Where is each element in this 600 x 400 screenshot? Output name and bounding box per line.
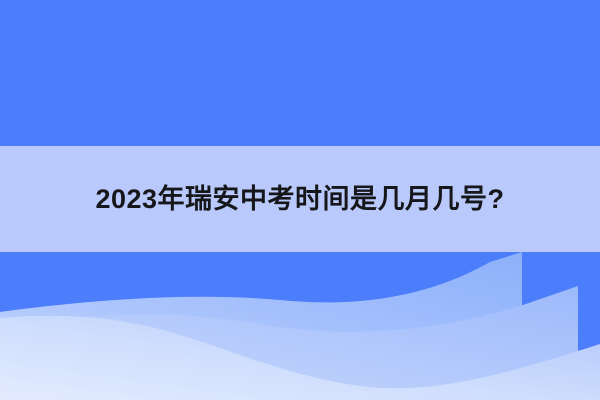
footer-wave-band — [0, 252, 600, 400]
header-band — [0, 0, 600, 146]
page-title: 2023年瑞安中考时间是几月几号? — [95, 186, 504, 213]
title-band: 2023年瑞安中考时间是几月几号? — [0, 146, 600, 252]
poster-canvas: 2023年瑞安中考时间是几月几号? — [0, 0, 600, 400]
wave-illustration — [0, 252, 600, 400]
